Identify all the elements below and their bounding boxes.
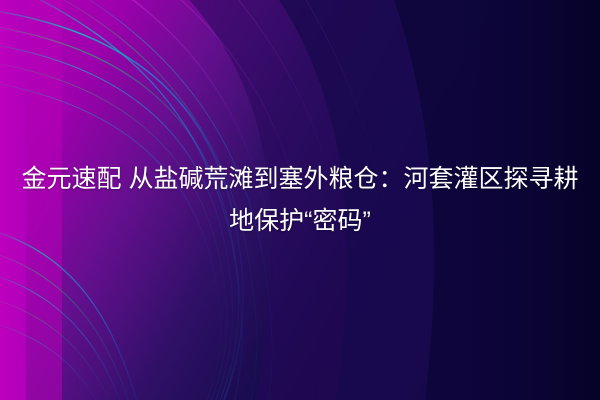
page-title: 金元速配 从盐碱荒滩到塞外粮仓：河套灌区探寻耕地保护“密码” <box>0 0 600 400</box>
banner-image: 金元速配 从盐碱荒滩到塞外粮仓：河套灌区探寻耕地保护“密码” <box>0 0 600 400</box>
